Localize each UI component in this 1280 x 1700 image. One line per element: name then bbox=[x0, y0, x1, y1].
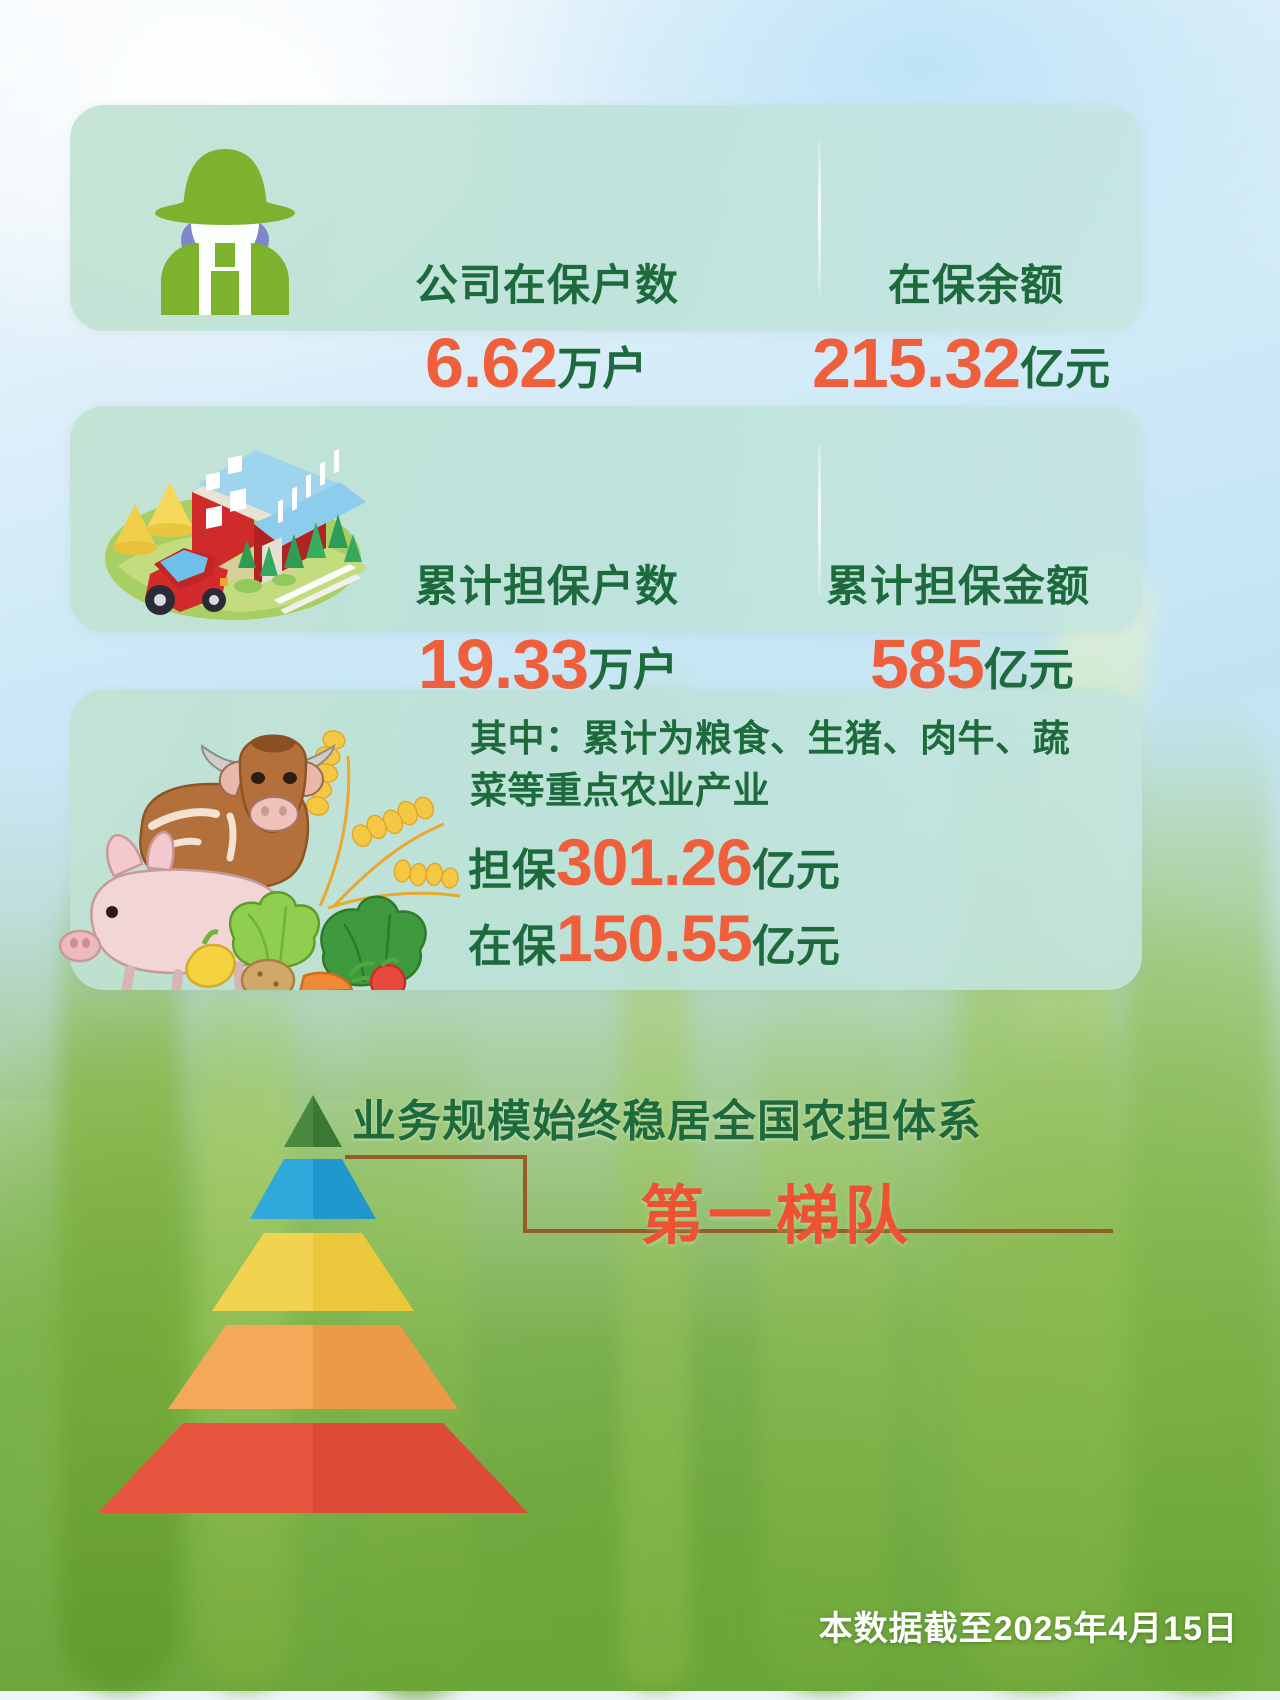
stat-label-cumulative-households: 累计担保户数 bbox=[415, 552, 679, 614]
card-insured: 公司在保户数 6.62万户 在保余额 215.32亿元 bbox=[70, 105, 1142, 331]
card3-stat-guarantee-unit: 亿元 bbox=[752, 846, 840, 895]
card-key-industries: 其中：累计为粮食、生猪、肉牛、蔬 菜等重点农业产业 担保301.26亿元 在保1… bbox=[70, 690, 1142, 990]
card-divider bbox=[818, 442, 821, 596]
stat-label-cumulative-amount: 累计担保金额 bbox=[826, 552, 1090, 614]
wheat-stalk-blur bbox=[1130, 700, 1270, 1690]
livestock-crops-icon bbox=[52, 700, 472, 990]
card3-stat-guarantee: 担保301.26亿元 bbox=[468, 824, 840, 900]
footer-date-note: 本数据截至2025年4月15日 bbox=[819, 1601, 1238, 1650]
card3-stat-guarantee-number: 301.26 bbox=[556, 825, 752, 899]
stat-unit-cumulative-households: 万户 bbox=[588, 644, 678, 695]
tagline-text: 业务规模始终稳居全国农担体系 bbox=[352, 1085, 982, 1149]
card3-stat-inforce: 在保150.55亿元 bbox=[468, 900, 840, 976]
stat-number-insured-households: 6.62 bbox=[425, 324, 557, 402]
farmer-icon bbox=[125, 123, 325, 315]
card3-stat-inforce-unit: 亿元 bbox=[752, 922, 840, 971]
bracket-line-top bbox=[345, 1155, 527, 1159]
card-cumulative: 累计担保户数 19.33万户 累计担保金额 585亿元 bbox=[70, 406, 1142, 632]
rank-highlight: 第一梯队 bbox=[640, 1165, 912, 1257]
stat-label-insured-balance: 在保余额 bbox=[888, 251, 1064, 313]
stat-value-insured-households: 6.62万户 bbox=[425, 323, 647, 403]
stat-label-insured-households: 公司在保户数 bbox=[415, 251, 679, 313]
card3-stat-inforce-label: 在保 bbox=[468, 922, 556, 971]
stat-number-insured-balance: 215.32 bbox=[812, 324, 1020, 402]
card3-text-line1: 其中：累计为粮食、生猪、肉牛、蔬 bbox=[470, 708, 1070, 762]
card-divider bbox=[818, 141, 821, 295]
farm-scene-icon bbox=[88, 418, 378, 624]
stat-unit-insured-balance: 亿元 bbox=[1020, 343, 1110, 394]
card3-stat-inforce-number: 150.55 bbox=[556, 901, 752, 975]
stat-unit-insured-households: 万户 bbox=[557, 343, 647, 394]
stat-unit-cumulative-amount: 亿元 bbox=[984, 644, 1074, 695]
card3-text-line2: 菜等重点农业产业 bbox=[470, 760, 770, 814]
stat-value-insured-balance: 215.32亿元 bbox=[812, 323, 1110, 403]
bracket-line-vertical bbox=[523, 1155, 527, 1233]
card3-stat-guarantee-label: 担保 bbox=[468, 846, 556, 895]
